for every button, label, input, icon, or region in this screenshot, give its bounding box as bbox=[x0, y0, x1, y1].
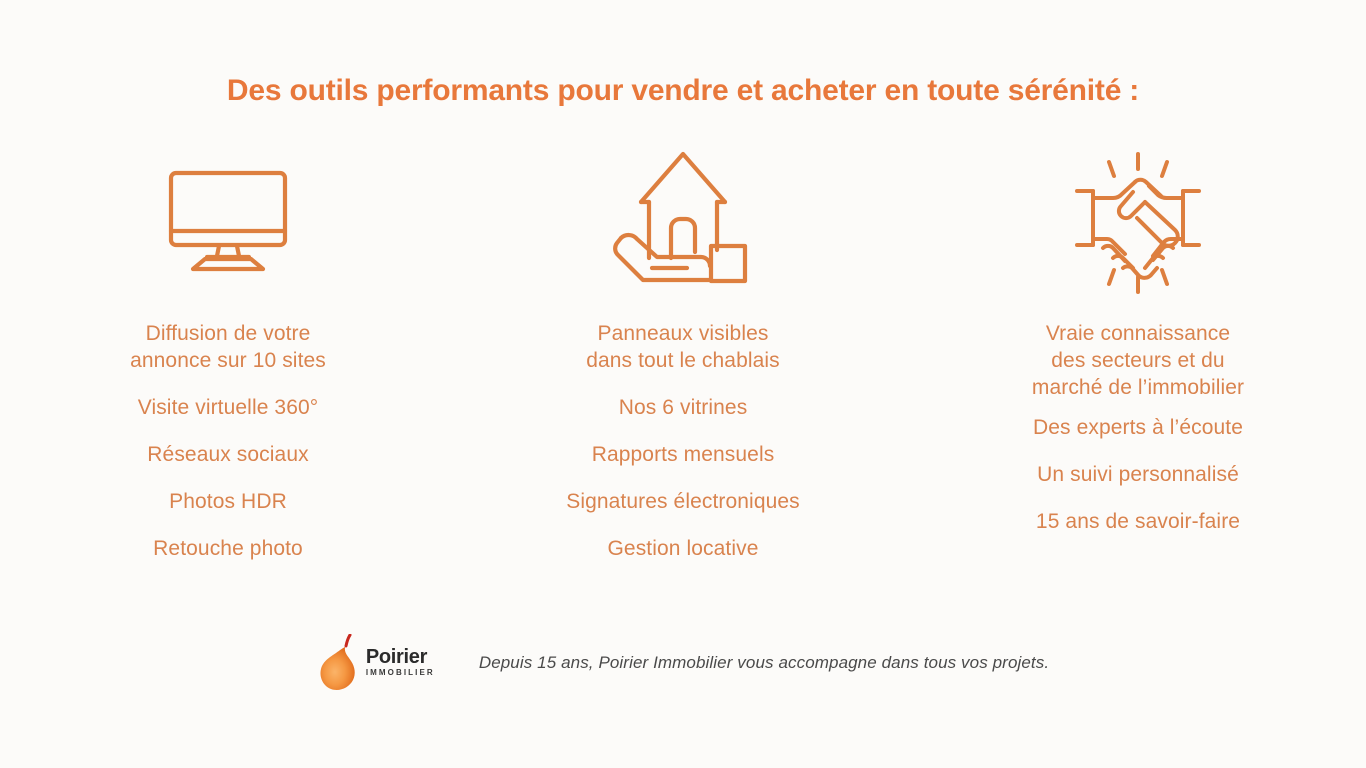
feature-item: Diffusion de votre annonce sur 10 sites bbox=[130, 320, 326, 374]
feature-columns: Diffusion de votre annonce sur 10 sites … bbox=[0, 140, 1366, 562]
slide-root: Des outils performants pour vendre et ac… bbox=[0, 0, 1366, 768]
feature-item: Nos 6 vitrines bbox=[619, 394, 748, 421]
feature-item: Vraie connaissance des secteurs et du ma… bbox=[1032, 320, 1244, 401]
feature-item: Signatures électroniques bbox=[566, 488, 800, 515]
feature-list-diffusion: Diffusion de votre annonce sur 10 sites … bbox=[1, 320, 456, 562]
feature-item: Gestion locative bbox=[607, 535, 758, 562]
page-title: Des outils performants pour vendre et ac… bbox=[0, 74, 1366, 108]
logo-subtitle: IMMOBILIER bbox=[366, 669, 435, 677]
poirier-logo: Poirier IMMOBILIER bbox=[317, 634, 435, 692]
feature-item: Rapports mensuels bbox=[592, 441, 775, 468]
logo-wordmark: Poirier IMMOBILIER bbox=[366, 647, 435, 679]
feature-column-diffusion: Diffusion de votre annonce sur 10 sites … bbox=[1, 140, 456, 562]
feature-item: Réseaux sociaux bbox=[147, 441, 308, 468]
monitor-icon bbox=[163, 140, 293, 300]
feature-item: Un suivi personnalisé bbox=[1037, 461, 1239, 488]
pear-icon bbox=[317, 634, 363, 692]
handshake-icon bbox=[1063, 140, 1213, 300]
feature-item: 15 ans de savoir-faire bbox=[1036, 508, 1240, 535]
feature-item: Des experts à l’écoute bbox=[1033, 414, 1243, 441]
footer: Poirier IMMOBILIER Depuis 15 ans, Poirie… bbox=[0, 634, 1366, 692]
logo-name: Poirier bbox=[366, 647, 427, 667]
feature-list-expertise: Vraie connaissance des secteurs et du ma… bbox=[911, 320, 1366, 535]
feature-column-expertise: Vraie connaissance des secteurs et du ma… bbox=[911, 140, 1366, 535]
feature-item: Photos HDR bbox=[169, 488, 287, 515]
feature-item: Panneaux visibles dans tout le chablais bbox=[586, 320, 780, 374]
house-in-hand-icon bbox=[603, 140, 763, 300]
feature-item: Visite virtuelle 360° bbox=[138, 394, 319, 421]
feature-column-visibilite: Panneaux visibles dans tout le chablais … bbox=[456, 140, 911, 562]
feature-item: Retouche photo bbox=[153, 535, 303, 562]
footer-tagline: Depuis 15 ans, Poirier Immobilier vous a… bbox=[479, 653, 1049, 673]
feature-list-visibilite: Panneaux visibles dans tout le chablais … bbox=[456, 320, 911, 562]
